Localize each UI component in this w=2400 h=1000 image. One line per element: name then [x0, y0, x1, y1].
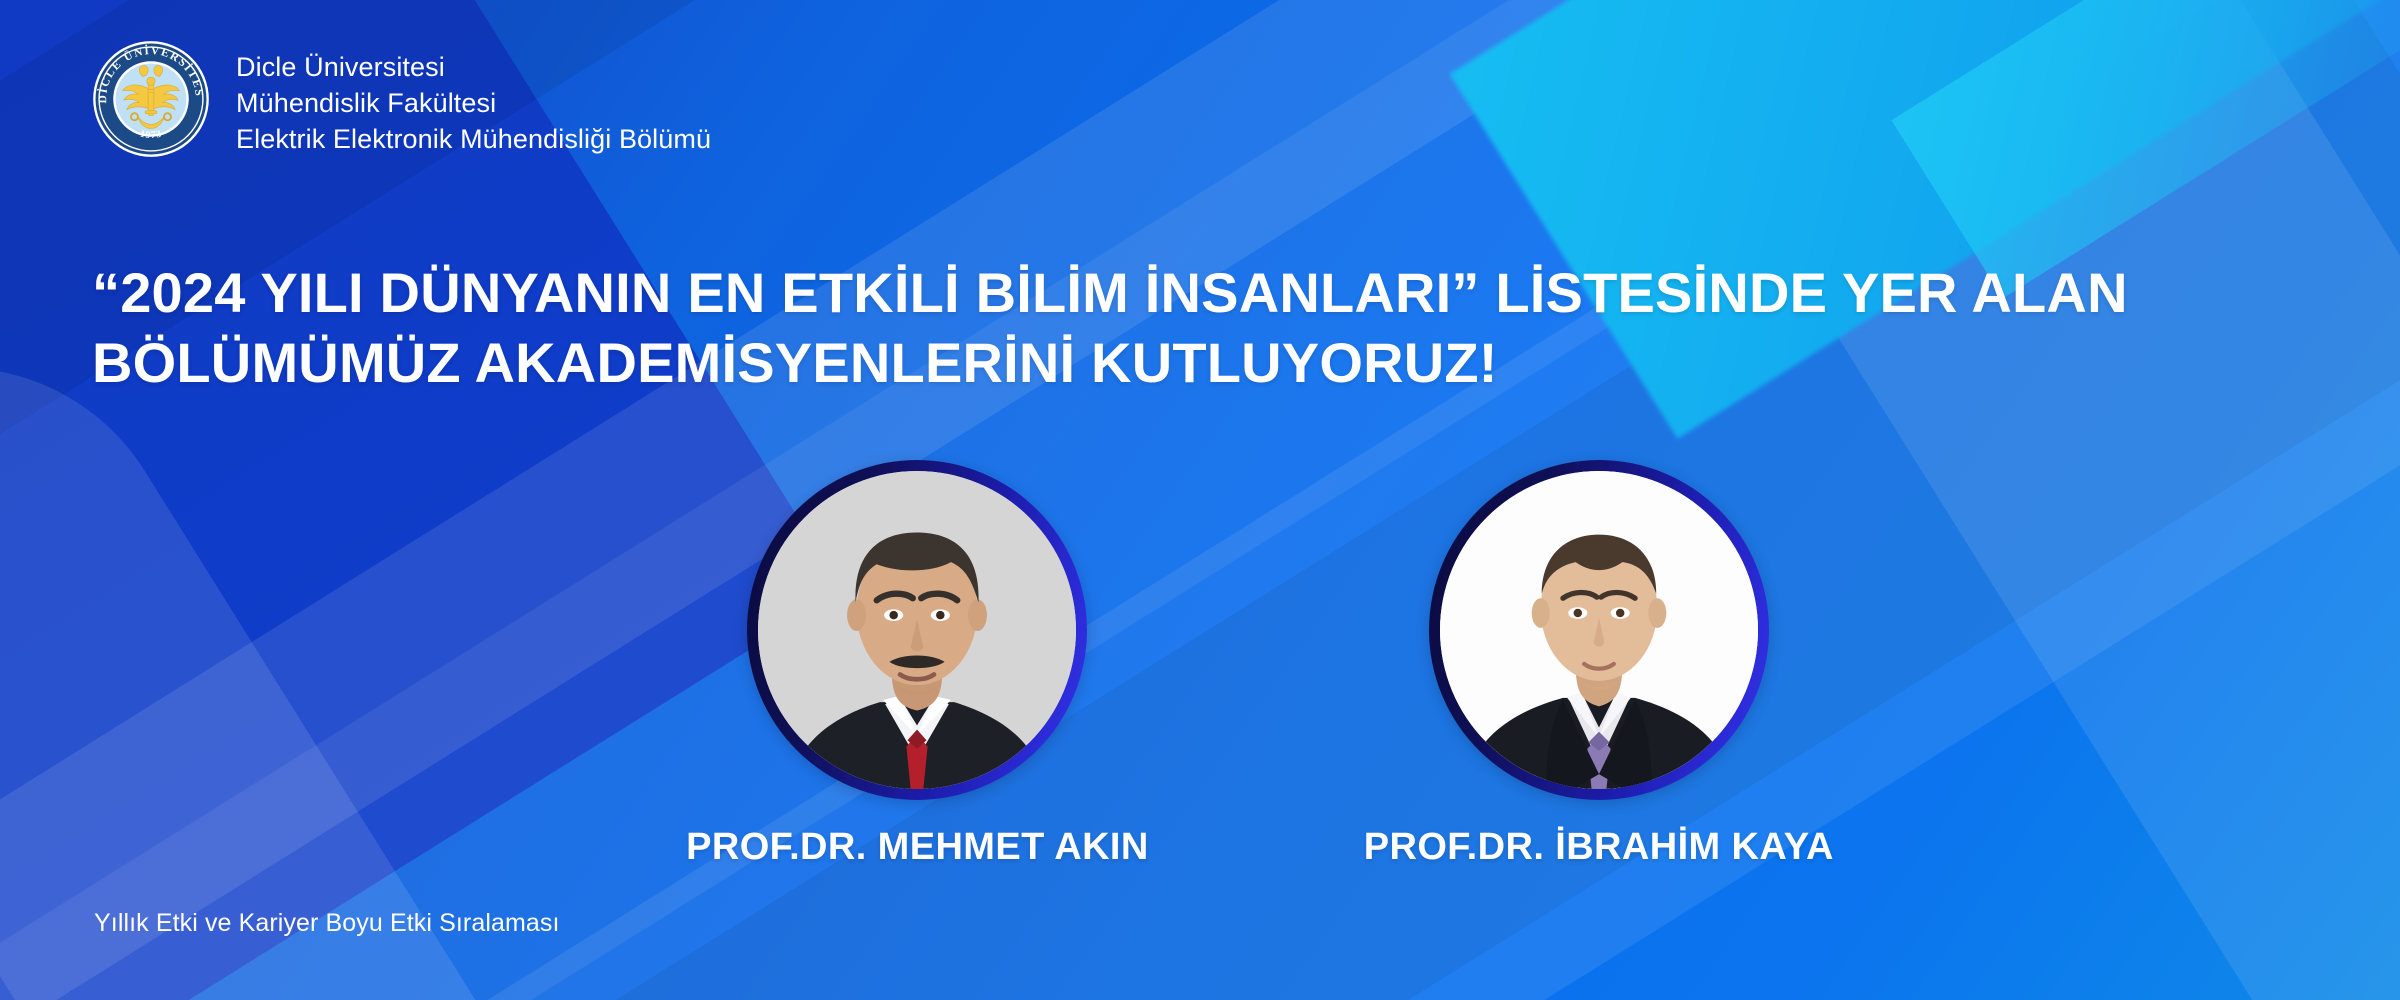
org-line-university: Dicle Üniversitesi [236, 50, 711, 84]
headline-line-1: “2024 YILI DÜNYANIN EN ETKİLİ BİLİM İNSA… [92, 258, 2232, 328]
avatar-ring [747, 460, 1087, 800]
honoree-card: PROF.DR. MEHMET AKIN [686, 460, 1149, 869]
org-line-faculty: Mühendislik Fakültesi [236, 86, 711, 120]
university-seal-icon: DİCLE ÜNİVERSİTESİ 1973 [92, 40, 210, 158]
headline: “2024 YILI DÜNYANIN EN ETKİLİ BİLİM İNSA… [92, 258, 2232, 398]
organization-name: Dicle Üniversitesi Mühendislik Fakültesi… [236, 44, 711, 156]
honoree-list: PROF.DR. MEHMET AKIN [0, 460, 2400, 869]
headline-line-2: BÖLÜMÜMÜZ AKADEMİSYENLERİNİ KUTLUYORUZ! [92, 328, 2232, 398]
footer-note: Yıllık Etki ve Kariyer Boyu Etki Sıralam… [94, 909, 560, 938]
avatar [1440, 471, 1758, 789]
announcement-banner: DİCLE ÜNİVERSİTESİ 1973 [0, 0, 2400, 1000]
honoree-name: PROF.DR. MEHMET AKIN [686, 826, 1149, 869]
portrait-mehmet-akin [758, 471, 1076, 789]
org-line-department: Elektrik Elektronik Mühendisliği Bölümü [236, 122, 711, 156]
honoree-name: PROF.DR. İBRAHİM KAYA [1364, 826, 1834, 869]
header: DİCLE ÜNİVERSİTESİ 1973 [92, 44, 711, 158]
portrait-ibrahim-kaya [1440, 471, 1758, 789]
honoree-card: PROF.DR. İBRAHİM KAYA [1364, 460, 1834, 869]
background-cyan-glow-highlight [1891, 0, 2400, 298]
avatar-ring [1429, 460, 1769, 800]
avatar [758, 471, 1076, 789]
